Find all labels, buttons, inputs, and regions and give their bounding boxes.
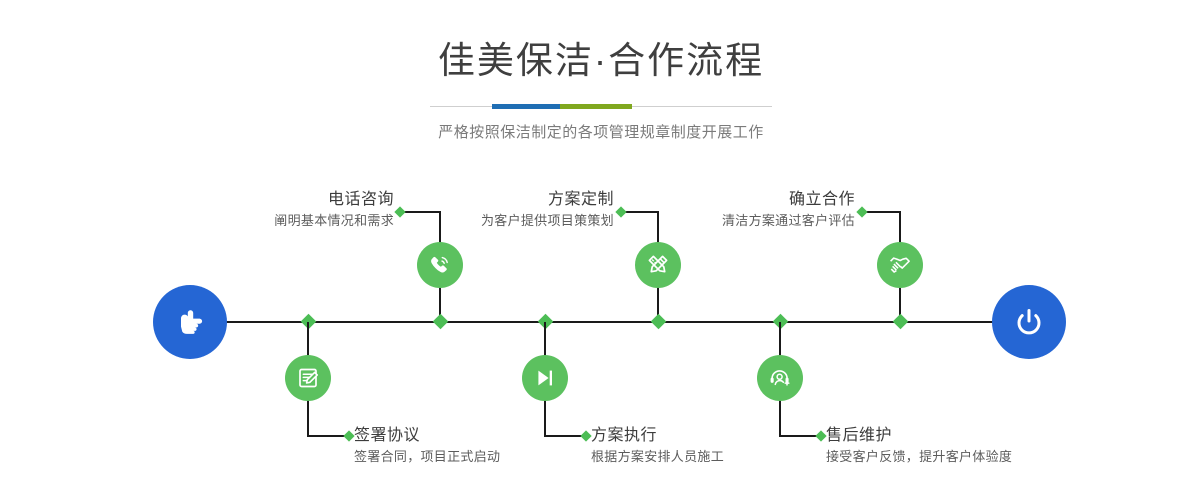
page-subtitle: 严格按照保洁制定的各项管理规章制度开展工作 — [0, 122, 1202, 144]
step-label-3: 方案定制 为客户提供项目策策划 — [400, 189, 614, 231]
pencil-ruler-icon — [645, 252, 671, 278]
pointing-hand-icon — [170, 302, 210, 342]
step-desc-1: 阐明基本情况和需求 — [180, 211, 394, 231]
power-icon — [1009, 302, 1049, 342]
step-node-6[interactable] — [757, 355, 803, 401]
handshake-icon — [887, 252, 913, 278]
step-title-6: 售后维护 — [826, 425, 1086, 447]
step-node-1[interactable] — [417, 242, 463, 288]
step-label-4: 方案执行 根据方案安排人员施工 — [591, 425, 831, 467]
step-desc-6: 接受客户反馈，提升客户体验度 — [826, 447, 1086, 467]
timeline-start-endpoint — [153, 285, 227, 359]
step-desc-2: 签署合同，项目正式启动 — [354, 447, 594, 467]
timeline-marker-4 — [651, 314, 667, 330]
play-execute-icon — [532, 365, 558, 391]
page-title: 佳美保洁·合作流程 — [0, 38, 1202, 84]
page-header: 佳美保洁·合作流程 严格按照保洁制定的各项管理规章制度开展工作 — [0, 0, 1202, 144]
step-label-2: 签署协议 签署合同，项目正式启动 — [354, 425, 594, 467]
step-desc-5: 清洁方案通过客户评估 — [645, 211, 855, 231]
branch-tip-2 — [343, 430, 354, 441]
divider-segment-blue — [492, 104, 560, 109]
timeline-marker-2 — [433, 314, 449, 330]
timeline-marker-6 — [893, 314, 909, 330]
step-node-5[interactable] — [877, 242, 923, 288]
step-label-6: 售后维护 接受客户反馈，提升客户体验度 — [826, 425, 1086, 467]
step-label-5: 确立合作 清洁方案通过客户评估 — [645, 189, 855, 231]
step-node-3[interactable] — [635, 242, 681, 288]
flow-diagram-canvas: 佳美保洁·合作流程 严格按照保洁制定的各项管理规章制度开展工作 — [0, 0, 1202, 502]
customer-service-icon — [767, 365, 793, 391]
phone-call-icon — [427, 252, 453, 278]
document-edit-icon — [295, 365, 321, 391]
step-node-2[interactable] — [285, 355, 331, 401]
step-node-4[interactable] — [522, 355, 568, 401]
timeline-end-endpoint — [992, 285, 1066, 359]
title-divider — [430, 102, 772, 111]
step-label-1: 电话咨询 阐明基本情况和需求 — [180, 189, 394, 231]
branch-tip-3 — [615, 206, 626, 217]
step-title-5: 确立合作 — [645, 189, 855, 211]
step-desc-3: 为客户提供项目策策划 — [400, 211, 614, 231]
step-title-1: 电话咨询 — [180, 189, 394, 211]
divider-segment-green — [560, 104, 632, 109]
branch-tip-5 — [856, 206, 867, 217]
step-title-3: 方案定制 — [400, 189, 614, 211]
step-desc-4: 根据方案安排人员施工 — [591, 447, 831, 467]
